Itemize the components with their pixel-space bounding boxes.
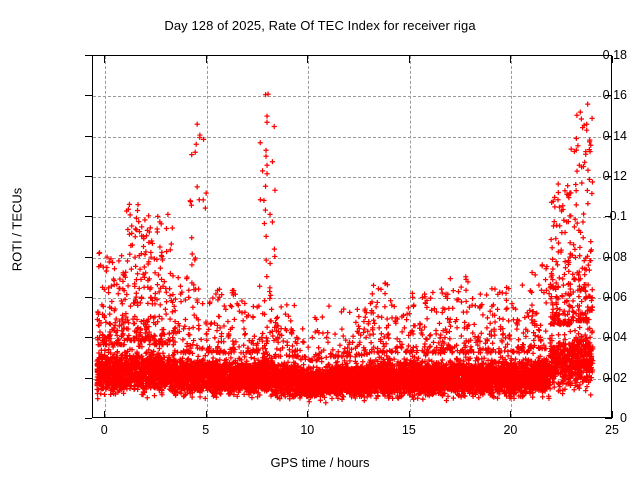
- y-tick-label: 0.12: [554, 169, 640, 183]
- x-tick-mark: [307, 56, 308, 63]
- x-tick-label: 20: [480, 423, 540, 437]
- y-tick-mark: [85, 378, 92, 379]
- y-axis-label: ROTI / TECUs: [10, 140, 25, 320]
- x-tick-mark: [206, 56, 207, 63]
- y-tick-mark: [85, 337, 92, 338]
- x-tick-mark: [409, 56, 410, 63]
- x-tick-label: 15: [379, 423, 439, 437]
- page-title: Day 128 of 2025, Rate Of TEC Index for r…: [0, 18, 640, 33]
- x-tick-mark: [104, 411, 105, 418]
- y-tick-mark: [85, 257, 92, 258]
- x-tick-label: 10: [277, 423, 337, 437]
- x-axis-label: GPS time / hours: [0, 455, 640, 470]
- x-tick-label: 5: [176, 423, 236, 437]
- y-tick-label: 0.14: [554, 129, 640, 143]
- y-tick-mark: [85, 55, 92, 56]
- y-tick-label: 0.04: [554, 330, 640, 344]
- x-tick-mark: [510, 411, 511, 418]
- x-tick-mark: [206, 411, 207, 418]
- scatter-points: [94, 92, 595, 406]
- y-tick-mark: [85, 418, 92, 419]
- x-tick-mark: [409, 411, 410, 418]
- x-tick-label: 25: [582, 423, 640, 437]
- y-tick-mark: [85, 297, 92, 298]
- y-tick-label: 0.16: [554, 88, 640, 102]
- y-tick-label: 0.08: [554, 250, 640, 264]
- y-tick-mark: [85, 95, 92, 96]
- x-tick-mark: [510, 56, 511, 63]
- scatter-data-layer: [93, 56, 611, 417]
- x-tick-label: 0: [74, 423, 134, 437]
- y-tick-mark: [85, 216, 92, 217]
- x-tick-mark: [612, 411, 613, 418]
- y-tick-mark: [85, 136, 92, 137]
- y-tick-label: 0.18: [554, 48, 640, 62]
- x-tick-mark: [104, 56, 105, 63]
- x-tick-mark: [612, 56, 613, 63]
- y-tick-mark: [85, 176, 92, 177]
- chart-page: Day 128 of 2025, Rate Of TEC Index for r…: [0, 0, 640, 480]
- y-tick-label: 0.06: [554, 290, 640, 304]
- plot-area: [92, 55, 612, 418]
- y-tick-label: 0.02: [554, 371, 640, 385]
- x-tick-mark: [307, 411, 308, 418]
- y-tick-label: 0.1: [554, 209, 640, 223]
